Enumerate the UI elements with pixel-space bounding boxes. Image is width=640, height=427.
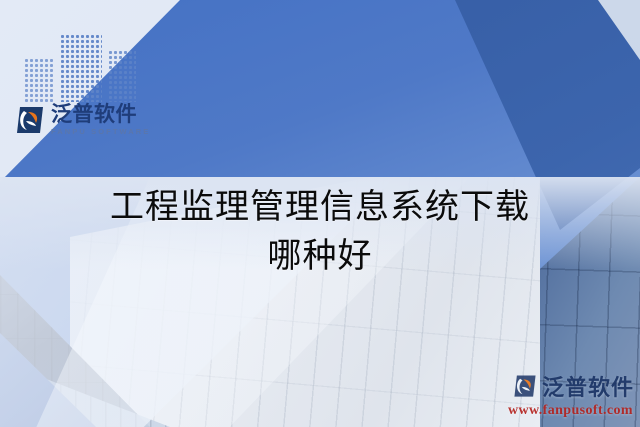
- brand-lockup: 泛普软件 FANPU SOFTWARE: [14, 34, 184, 136]
- fanpu-logo-mark-icon: [512, 373, 538, 399]
- fanpu-logo-mark-icon: [14, 104, 46, 136]
- watermark: 泛普软件 www.fanpusoft.com: [508, 370, 634, 419]
- skyline-tower-right: [108, 50, 136, 102]
- watermark-brand-name: 泛普软件: [542, 370, 634, 402]
- promo-banner: 泛普软件 FANPU SOFTWARE 工程监理管理信息系统下载 哪种好 泛普软…: [0, 0, 640, 427]
- pixel-skyline-icon: [24, 34, 136, 102]
- headline-line-2: 哪种好: [0, 232, 640, 281]
- skyline-tower-left: [24, 58, 54, 102]
- skyline-tower-center: [60, 34, 102, 102]
- logo-text: 泛普软件 FANPU SOFTWARE: [51, 104, 150, 136]
- logo-row: 泛普软件 FANPU SOFTWARE: [14, 104, 184, 136]
- watermark-row: 泛普软件: [512, 370, 634, 402]
- brand-name-cn: 泛普软件: [51, 104, 150, 125]
- headline: 工程监理管理信息系统下载 哪种好: [0, 183, 640, 282]
- headline-line-1: 工程监理管理信息系统下载: [110, 189, 530, 226]
- brand-name-en: FANPU SOFTWARE: [51, 128, 150, 136]
- watermark-url: www.fanpusoft.com: [508, 403, 633, 419]
